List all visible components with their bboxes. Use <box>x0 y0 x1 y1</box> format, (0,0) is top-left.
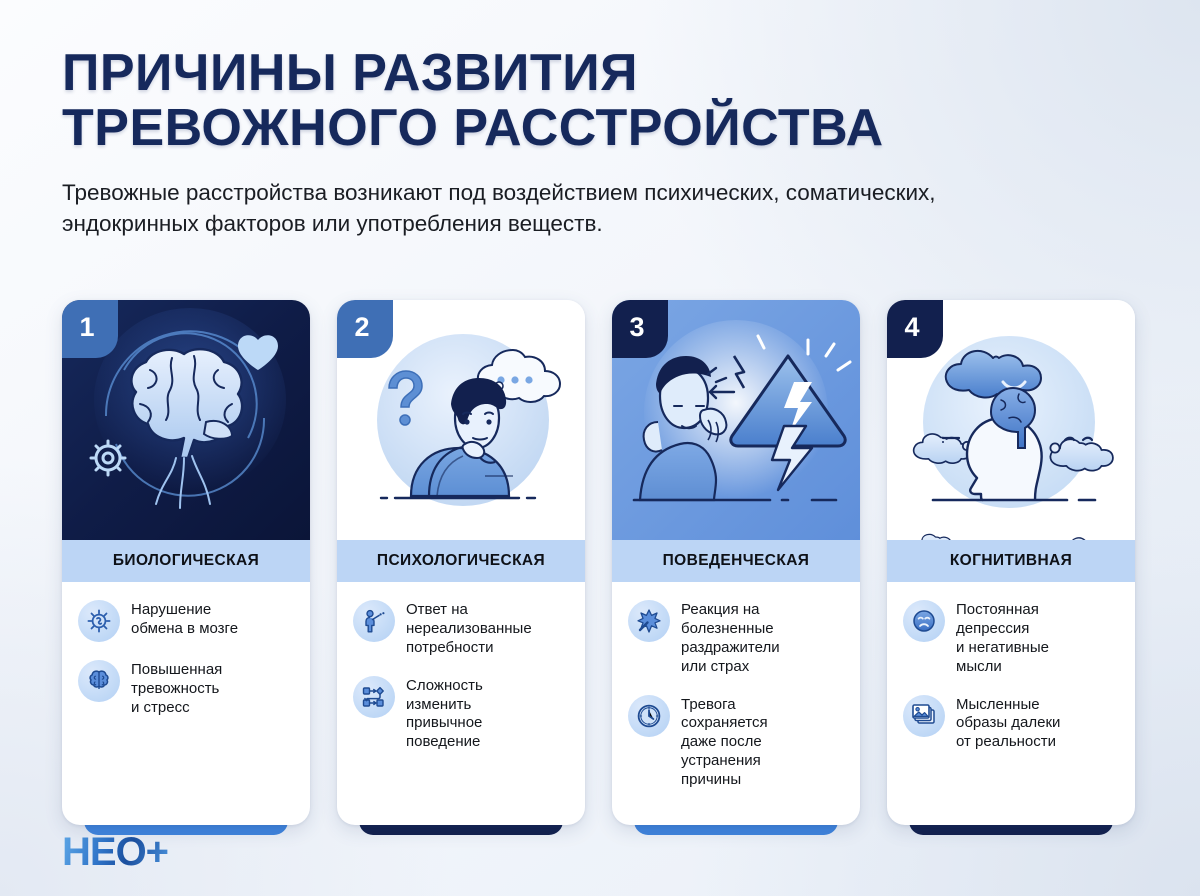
list-item: Повышенная тревожность и стресс <box>78 660 296 718</box>
card-items: Нарушение обмена в мозге <box>62 582 310 825</box>
list-item-text: Реакция на болезненные раздражители или … <box>681 600 780 677</box>
page-title-line2: ТРЕВОЖНОГО РАССТРОЙСТВА <box>62 101 1082 156</box>
list-item: Сложность изменить привычное поведение <box>353 676 571 753</box>
sad-face-icon <box>903 600 945 642</box>
list-item-text: Ответ на нереализованные потребности <box>406 600 532 658</box>
card-items: Реакция на болезненные раздражители или … <box>612 582 860 825</box>
list-item-text: Сложность изменить привычное поведение <box>406 676 483 753</box>
card-number-badge: 3 <box>612 300 668 358</box>
list-item: Постоянная депрессия и негативные мысли <box>903 600 1121 677</box>
card-label-band: ПСИХОЛОГИЧЕСКАЯ <box>337 540 585 582</box>
card-label-band: КОГНИТИВНАЯ <box>887 540 1135 582</box>
card-number-badge: 1 <box>62 300 118 358</box>
card-label-band: БИОЛОГИЧЕСКАЯ <box>62 540 310 582</box>
card-number-badge: 4 <box>887 300 943 358</box>
card-label: БИОЛОГИЧЕСКАЯ <box>113 552 259 570</box>
person-reaching-icon <box>353 600 395 642</box>
card-items: Постоянная депрессия и негативные мысли <box>887 582 1135 825</box>
illustration-thinking-person: 2 <box>337 300 585 540</box>
card-cognitive[interactable]: 4 КОГНИТИВНАЯ <box>887 300 1135 830</box>
card-behavioral[interactable]: 3 ПОВЕДЕНЧЕСКАЯ Реакция на болезненные р… <box>612 300 860 830</box>
list-item-text: Тревога сохраняется даже после устранени… <box>681 695 768 790</box>
card-number-badge: 2 <box>337 300 393 358</box>
card-label-band: ПОВЕДЕНЧЕСКАЯ <box>612 540 860 582</box>
list-item-text: Мысленные образы далеки от реальности <box>956 695 1060 753</box>
card-body: 4 КОГНИТИВНАЯ <box>887 300 1135 825</box>
clock-icon <box>628 695 670 737</box>
illustration-head-thought-clouds: 4 <box>887 300 1135 540</box>
card-psychological[interactable]: 2 ПСИХОЛОГИЧЕСКАЯ <box>337 300 585 830</box>
cards-row: 1 БИОЛОГИЧЕСКАЯ Нарушени <box>62 300 1140 830</box>
images-icon <box>903 695 945 737</box>
illustration-brain-neural: 1 <box>62 300 310 540</box>
list-item-text: Повышенная тревожность и стресс <box>131 660 222 718</box>
card-label: ПСИХОЛОГИЧЕСКАЯ <box>377 552 545 570</box>
card-biological[interactable]: 1 БИОЛОГИЧЕСКАЯ Нарушени <box>62 300 310 830</box>
brain-icon <box>78 660 120 702</box>
header: ПРИЧИНЫ РАЗВИТИЯ ТРЕВОЖНОГО РАССТРОЙСТВА… <box>62 46 1082 239</box>
burst-impact-icon <box>628 600 670 642</box>
list-item: Тревога сохраняется даже после устранени… <box>628 695 846 790</box>
list-item: Мысленные образы далеки от реальности <box>903 695 1121 753</box>
flow-diagram-icon <box>353 676 395 718</box>
card-body: 1 БИОЛОГИЧЕСКАЯ Нарушени <box>62 300 310 825</box>
page-subtitle: Тревожные расстройства возникают под воз… <box>62 178 1062 239</box>
card-label: ПОВЕДЕНЧЕСКАЯ <box>663 552 810 570</box>
list-item: Ответ на нереализованные потребности <box>353 600 571 658</box>
card-body: 3 ПОВЕДЕНЧЕСКАЯ Реакция на болезненные р… <box>612 300 860 825</box>
infographic-page: ПРИЧИНЫ РАЗВИТИЯ ТРЕВОЖНОГО РАССТРОЙСТВА… <box>0 0 1200 896</box>
card-items: Ответ на нереализованные потребности <box>337 582 585 825</box>
card-body: 2 ПСИХОЛОГИЧЕСКАЯ <box>337 300 585 825</box>
list-item: Реакция на болезненные раздражители или … <box>628 600 846 677</box>
list-item-text: Постоянная депрессия и негативные мысли <box>956 600 1049 677</box>
gear-metabolism-icon <box>78 600 120 642</box>
card-label: КОГНИТИВНАЯ <box>950 552 1072 570</box>
illustration-startled-person-warning: 3 <box>612 300 860 540</box>
page-title: ПРИЧИНЫ РАЗВИТИЯ ТРЕВОЖНОГО РАССТРОЙСТВА <box>62 46 1082 156</box>
logo: НЕО+ <box>62 830 168 874</box>
page-title-line1: ПРИЧИНЫ РАЗВИТИЯ <box>62 44 638 102</box>
logo-text: НЕО+ <box>62 832 168 872</box>
list-item: Нарушение обмена в мозге <box>78 600 296 642</box>
list-item-text: Нарушение обмена в мозге <box>131 600 238 639</box>
